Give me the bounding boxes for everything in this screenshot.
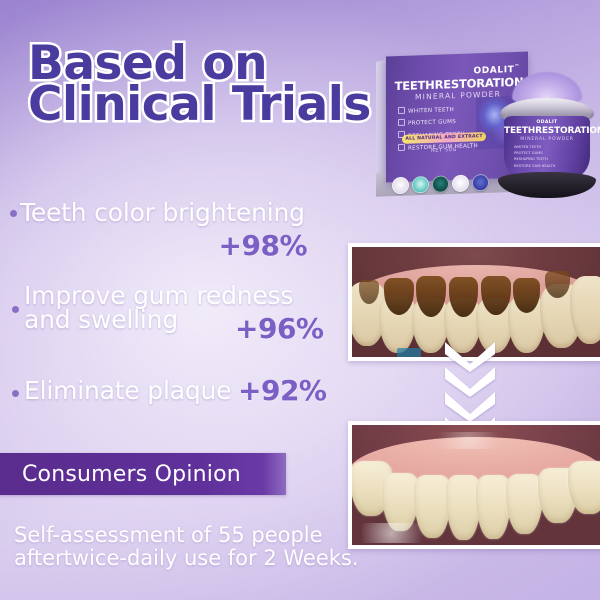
jar-title: TEETHRESTORATION xyxy=(504,126,590,136)
jar-feature-list: WHITEN TEETH PROTECT GUMS RESHAPING TEET… xyxy=(514,145,555,170)
benefit-row-2: Improve gum redness and swelling +96% xyxy=(10,284,345,346)
jar-title-rest: RESTORATION xyxy=(535,126,600,136)
benefit-value: +98% xyxy=(10,229,345,262)
benefit-value: +92% xyxy=(238,374,326,407)
consumers-opinion-banner: Consumers Opinion xyxy=(0,453,286,495)
footnote-line-2: aftertwice-daily use for 2 Weeks. xyxy=(14,547,414,570)
benefits-list: Teeth color brightening +98% Improve gum… xyxy=(10,198,345,416)
after-photo xyxy=(348,421,600,549)
jar-brand-name: ODALIT xyxy=(504,120,590,125)
jar-label-body: ODALIT TEETHRESTORATION MINERAL POWDER W… xyxy=(504,116,590,178)
banner-label: Consumers Opinion xyxy=(22,462,241,487)
bullet-dot-icon xyxy=(12,306,19,313)
advertisement-canvas: Based on Clinical Trials ODALIT™ TEETHRE… xyxy=(0,0,600,600)
feature-item: PROTECT GUMS xyxy=(398,115,490,127)
jar-feature-item: RESTORE GUM HEALTH xyxy=(514,164,555,168)
approved-badge-icon xyxy=(472,173,489,191)
after-photo-content xyxy=(352,425,600,545)
dental-instrument xyxy=(397,348,422,361)
benefit-row-3: Eliminate plaque +92% xyxy=(10,376,345,416)
feature-item: WHITEN TEETH xyxy=(398,103,490,115)
page-title: Based on Clinical Trials xyxy=(28,42,371,126)
benefit-label: Eliminate plaque xyxy=(24,376,231,405)
jar-subtitle: MINERAL POWDER xyxy=(504,137,590,142)
checkbox-icon xyxy=(398,106,405,113)
product-jar: ODALIT TEETHRESTORATION MINERAL POWDER W… xyxy=(492,72,596,196)
vegan-badge-icon xyxy=(432,175,449,193)
benefit-row-1: Teeth color brightening +98% xyxy=(10,198,345,262)
benefit-label-line-2: and swelling xyxy=(24,308,178,332)
feature-label: PROTECT GUMS xyxy=(408,119,456,127)
lab-tested-badge-icon xyxy=(452,174,469,192)
jar-title-bold: TEETH xyxy=(504,126,535,136)
saliva-highlight xyxy=(426,432,510,449)
product-title-bold: TEETH xyxy=(395,78,435,93)
jar-feature-item: RESHAPING TEETH xyxy=(514,157,555,161)
benefit-value: +96% xyxy=(235,312,323,345)
checkbox-icon xyxy=(398,119,405,126)
benefit-label: Teeth color brightening xyxy=(20,198,305,227)
headline-line-2: Clinical Trials xyxy=(28,83,371,126)
jar-black-lid xyxy=(498,172,596,198)
usa-flag-badge-icon xyxy=(392,176,409,194)
product-image-group: ODALIT™ TEETHRESTORATION MINERAL POWDER … xyxy=(372,48,600,200)
bullet-dot-icon xyxy=(10,210,17,217)
saliva-highlight xyxy=(362,523,436,542)
bullet-dot-icon xyxy=(12,390,19,397)
jar-feature-item: PROTECT GUMS xyxy=(514,151,555,155)
feature-label: WHITEN TEETH xyxy=(408,107,454,115)
jar-feature-item: WHITEN TEETH xyxy=(514,145,555,149)
quality-seal-badge-icon xyxy=(412,175,429,193)
trademark-symbol: ™ xyxy=(514,64,520,70)
